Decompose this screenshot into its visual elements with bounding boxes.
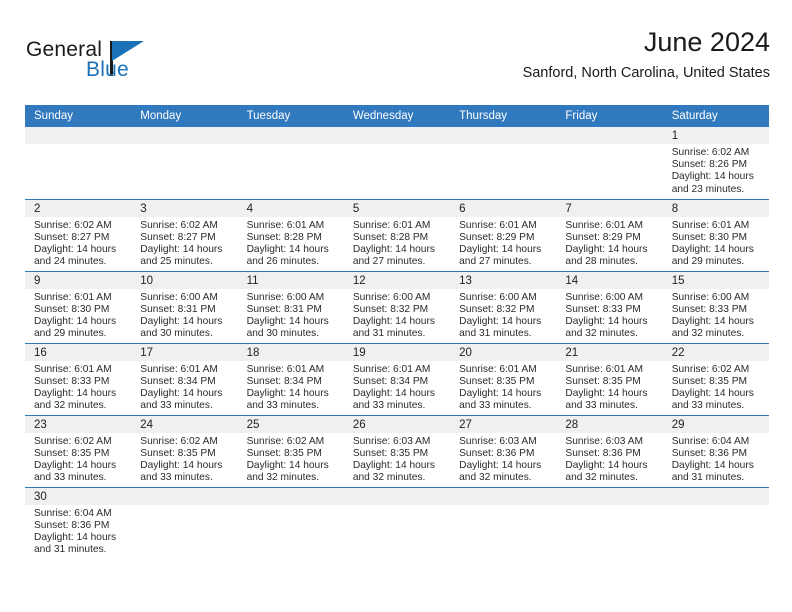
sunset-text: Sunset: 8:35 PM xyxy=(34,448,125,460)
day-details: Sunrise: 6:04 AMSunset: 8:36 PMDaylight:… xyxy=(663,433,769,485)
calendar-day-cell[interactable]: 22Sunrise: 6:02 AMSunset: 8:35 PMDayligh… xyxy=(663,343,769,415)
weekday-header-wednesday: Wednesday xyxy=(344,105,450,127)
sunrise-text: Sunrise: 6:01 AM xyxy=(140,364,231,376)
title-block: June 2024 Sanford, North Carolina, Unite… xyxy=(166,28,770,81)
sunset-text: Sunset: 8:35 PM xyxy=(353,448,444,460)
day-number: 23 xyxy=(25,416,131,433)
daylight-text-line1: Daylight: 14 hours xyxy=(672,316,763,328)
sunrise-text: Sunrise: 6:04 AM xyxy=(672,436,763,448)
daylight-text-line1: Daylight: 14 hours xyxy=(140,316,231,328)
sunset-text: Sunset: 8:32 PM xyxy=(459,304,550,316)
daylight-text-line2: and 23 minutes. xyxy=(672,184,763,196)
sunrise-text: Sunrise: 6:02 AM xyxy=(34,436,125,448)
sunrise-text: Sunrise: 6:01 AM xyxy=(247,220,338,232)
daylight-text-line1: Daylight: 14 hours xyxy=(565,460,656,472)
day-number xyxy=(663,488,769,505)
sunset-text: Sunset: 8:34 PM xyxy=(247,376,338,388)
day-number: 28 xyxy=(556,416,662,433)
day-number: 16 xyxy=(25,344,131,361)
daylight-text-line1: Daylight: 14 hours xyxy=(34,460,125,472)
calendar-day-cell-empty xyxy=(131,127,237,199)
day-details: Sunrise: 6:03 AMSunset: 8:35 PMDaylight:… xyxy=(344,433,450,485)
daylight-text-line1: Daylight: 14 hours xyxy=(34,244,125,256)
sunrise-text: Sunrise: 6:04 AM xyxy=(34,508,125,520)
day-number: 30 xyxy=(25,488,131,505)
daylight-text-line2: and 32 minutes. xyxy=(34,400,125,412)
day-number: 27 xyxy=(450,416,556,433)
daylight-text-line2: and 29 minutes. xyxy=(34,328,125,340)
sunrise-text: Sunrise: 6:01 AM xyxy=(459,364,550,376)
calendar-day-cell-empty xyxy=(556,127,662,199)
sunset-text: Sunset: 8:29 PM xyxy=(565,232,656,244)
day-details: Sunrise: 6:00 AMSunset: 8:31 PMDaylight:… xyxy=(238,289,344,341)
calendar-day-cell-empty xyxy=(131,487,237,559)
calendar-day-cell[interactable]: 24Sunrise: 6:02 AMSunset: 8:35 PMDayligh… xyxy=(131,415,237,487)
sunrise-text: Sunrise: 6:00 AM xyxy=(140,292,231,304)
daylight-text-line2: and 32 minutes. xyxy=(565,328,656,340)
day-details: Sunrise: 6:02 AMSunset: 8:27 PMDaylight:… xyxy=(131,217,237,269)
calendar-day-cell[interactable]: 9Sunrise: 6:01 AMSunset: 8:30 PMDaylight… xyxy=(25,271,131,343)
day-number: 25 xyxy=(238,416,344,433)
daylight-text-line1: Daylight: 14 hours xyxy=(353,244,444,256)
weekday-header-friday: Friday xyxy=(556,105,662,127)
calendar-day-cell[interactable]: 12Sunrise: 6:00 AMSunset: 8:32 PMDayligh… xyxy=(344,271,450,343)
daylight-text-line1: Daylight: 14 hours xyxy=(459,244,550,256)
day-number: 24 xyxy=(131,416,237,433)
day-details: Sunrise: 6:00 AMSunset: 8:33 PMDaylight:… xyxy=(556,289,662,341)
day-details: Sunrise: 6:01 AMSunset: 8:28 PMDaylight:… xyxy=(344,217,450,269)
sunrise-text: Sunrise: 6:01 AM xyxy=(672,220,763,232)
day-details: Sunrise: 6:02 AMSunset: 8:27 PMDaylight:… xyxy=(25,217,131,269)
day-details: Sunrise: 6:04 AMSunset: 8:36 PMDaylight:… xyxy=(25,505,131,557)
daylight-text-line1: Daylight: 14 hours xyxy=(34,316,125,328)
calendar-day-cell[interactable]: 27Sunrise: 6:03 AMSunset: 8:36 PMDayligh… xyxy=(450,415,556,487)
sunrise-text: Sunrise: 6:03 AM xyxy=(459,436,550,448)
sunrise-text: Sunrise: 6:02 AM xyxy=(672,364,763,376)
sunset-text: Sunset: 8:28 PM xyxy=(353,232,444,244)
daylight-text-line2: and 28 minutes. xyxy=(565,256,656,268)
day-number: 15 xyxy=(663,272,769,289)
calendar-day-cell[interactable]: 30Sunrise: 6:04 AMSunset: 8:36 PMDayligh… xyxy=(25,487,131,559)
day-number xyxy=(131,127,237,144)
calendar-day-cell[interactable]: 28Sunrise: 6:03 AMSunset: 8:36 PMDayligh… xyxy=(556,415,662,487)
sunset-text: Sunset: 8:35 PM xyxy=(565,376,656,388)
day-number: 6 xyxy=(450,200,556,217)
day-details: Sunrise: 6:00 AMSunset: 8:32 PMDaylight:… xyxy=(344,289,450,341)
sunset-text: Sunset: 8:35 PM xyxy=(140,448,231,460)
sunrise-text: Sunrise: 6:01 AM xyxy=(565,364,656,376)
daylight-text-line1: Daylight: 14 hours xyxy=(353,316,444,328)
daylight-text-line1: Daylight: 14 hours xyxy=(140,460,231,472)
day-details: Sunrise: 6:00 AMSunset: 8:33 PMDaylight:… xyxy=(663,289,769,341)
day-details: Sunrise: 6:01 AMSunset: 8:35 PMDaylight:… xyxy=(450,361,556,413)
sunset-text: Sunset: 8:26 PM xyxy=(672,159,763,171)
calendar-day-cell[interactable]: 5Sunrise: 6:01 AMSunset: 8:28 PMDaylight… xyxy=(344,199,450,271)
weekday-header-saturday: Saturday xyxy=(663,105,769,127)
sunset-text: Sunset: 8:30 PM xyxy=(34,304,125,316)
day-number xyxy=(450,488,556,505)
calendar-day-cell-empty xyxy=(450,487,556,559)
calendar-day-cell[interactable]: 20Sunrise: 6:01 AMSunset: 8:35 PMDayligh… xyxy=(450,343,556,415)
day-number xyxy=(238,127,344,144)
daylight-text-line2: and 32 minutes. xyxy=(247,472,338,484)
calendar-day-cell[interactable]: 11Sunrise: 6:00 AMSunset: 8:31 PMDayligh… xyxy=(238,271,344,343)
calendar-week-row: 30Sunrise: 6:04 AMSunset: 8:36 PMDayligh… xyxy=(25,487,769,559)
sunrise-text: Sunrise: 6:02 AM xyxy=(247,436,338,448)
day-number: 10 xyxy=(131,272,237,289)
day-number: 17 xyxy=(131,344,237,361)
calendar-page: General Blue June 2024 Sanford, North Ca… xyxy=(0,0,792,612)
sunrise-text: Sunrise: 6:01 AM xyxy=(565,220,656,232)
daylight-text-line1: Daylight: 14 hours xyxy=(459,460,550,472)
daylight-text-line2: and 32 minutes. xyxy=(672,328,763,340)
general-blue-logo[interactable]: General Blue xyxy=(26,28,166,84)
sunset-text: Sunset: 8:34 PM xyxy=(140,376,231,388)
calendar-day-cell-empty xyxy=(25,127,131,199)
calendar-day-cell[interactable]: 21Sunrise: 6:01 AMSunset: 8:35 PMDayligh… xyxy=(556,343,662,415)
day-number: 26 xyxy=(344,416,450,433)
day-number: 9 xyxy=(25,272,131,289)
day-details: Sunrise: 6:01 AMSunset: 8:33 PMDaylight:… xyxy=(25,361,131,413)
sunrise-text: Sunrise: 6:01 AM xyxy=(34,364,125,376)
daylight-text-line2: and 33 minutes. xyxy=(247,400,338,412)
calendar-day-cell[interactable]: 8Sunrise: 6:01 AMSunset: 8:30 PMDaylight… xyxy=(663,199,769,271)
day-details: Sunrise: 6:02 AMSunset: 8:35 PMDaylight:… xyxy=(663,361,769,413)
daylight-text-line2: and 31 minutes. xyxy=(672,472,763,484)
day-details: Sunrise: 6:00 AMSunset: 8:31 PMDaylight:… xyxy=(131,289,237,341)
calendar-day-cell[interactable]: 29Sunrise: 6:04 AMSunset: 8:36 PMDayligh… xyxy=(663,415,769,487)
daylight-text-line1: Daylight: 14 hours xyxy=(353,388,444,400)
day-number: 1 xyxy=(663,127,769,144)
sunrise-text: Sunrise: 6:02 AM xyxy=(34,220,125,232)
calendar-day-cell[interactable]: 25Sunrise: 6:02 AMSunset: 8:35 PMDayligh… xyxy=(238,415,344,487)
sunrise-text: Sunrise: 6:03 AM xyxy=(353,436,444,448)
day-number: 20 xyxy=(450,344,556,361)
sunset-text: Sunset: 8:29 PM xyxy=(459,232,550,244)
daylight-text-line1: Daylight: 14 hours xyxy=(459,316,550,328)
day-number: 5 xyxy=(344,200,450,217)
daylight-text-line1: Daylight: 14 hours xyxy=(247,244,338,256)
sunset-text: Sunset: 8:36 PM xyxy=(34,520,125,532)
calendar-week-row: 2Sunrise: 6:02 AMSunset: 8:27 PMDaylight… xyxy=(25,199,769,271)
day-number: 12 xyxy=(344,272,450,289)
sunset-text: Sunset: 8:28 PM xyxy=(247,232,338,244)
day-details: Sunrise: 6:02 AMSunset: 8:35 PMDaylight:… xyxy=(238,433,344,485)
day-number xyxy=(238,488,344,505)
daylight-text-line2: and 31 minutes. xyxy=(353,328,444,340)
calendar-day-cell[interactable]: 17Sunrise: 6:01 AMSunset: 8:34 PMDayligh… xyxy=(131,343,237,415)
sunset-text: Sunset: 8:35 PM xyxy=(459,376,550,388)
daylight-text-line1: Daylight: 14 hours xyxy=(672,244,763,256)
daylight-text-line1: Daylight: 14 hours xyxy=(459,388,550,400)
sunset-text: Sunset: 8:33 PM xyxy=(565,304,656,316)
calendar-day-cell[interactable]: 13Sunrise: 6:00 AMSunset: 8:32 PMDayligh… xyxy=(450,271,556,343)
day-number: 8 xyxy=(663,200,769,217)
day-details: Sunrise: 6:03 AMSunset: 8:36 PMDaylight:… xyxy=(556,433,662,485)
daylight-text-line2: and 33 minutes. xyxy=(565,400,656,412)
page-subtitle: Sanford, North Carolina, United States xyxy=(166,65,770,81)
sunset-text: Sunset: 8:32 PM xyxy=(353,304,444,316)
day-number: 13 xyxy=(450,272,556,289)
daylight-text-line2: and 33 minutes. xyxy=(140,472,231,484)
sunset-text: Sunset: 8:36 PM xyxy=(565,448,656,460)
day-details: Sunrise: 6:01 AMSunset: 8:29 PMDaylight:… xyxy=(450,217,556,269)
sunset-text: Sunset: 8:36 PM xyxy=(672,448,763,460)
day-number xyxy=(450,127,556,144)
daylight-text-line2: and 30 minutes. xyxy=(247,328,338,340)
sunrise-text: Sunrise: 6:00 AM xyxy=(247,292,338,304)
day-number: 19 xyxy=(344,344,450,361)
day-number xyxy=(25,127,131,144)
day-details: Sunrise: 6:01 AMSunset: 8:34 PMDaylight:… xyxy=(238,361,344,413)
calendar-day-cell-empty xyxy=(663,487,769,559)
calendar-table: SundayMondayTuesdayWednesdayThursdayFrid… xyxy=(25,105,769,559)
sunset-text: Sunset: 8:34 PM xyxy=(353,376,444,388)
day-number: 4 xyxy=(238,200,344,217)
daylight-text-line2: and 32 minutes. xyxy=(459,472,550,484)
sunrise-text: Sunrise: 6:00 AM xyxy=(459,292,550,304)
day-details: Sunrise: 6:01 AMSunset: 8:35 PMDaylight:… xyxy=(556,361,662,413)
day-details: Sunrise: 6:00 AMSunset: 8:32 PMDaylight:… xyxy=(450,289,556,341)
calendar-day-cell[interactable]: 6Sunrise: 6:01 AMSunset: 8:29 PMDaylight… xyxy=(450,199,556,271)
sunrise-text: Sunrise: 6:01 AM xyxy=(34,292,125,304)
sunrise-text: Sunrise: 6:00 AM xyxy=(353,292,444,304)
sunrise-text: Sunrise: 6:01 AM xyxy=(353,220,444,232)
daylight-text-line1: Daylight: 14 hours xyxy=(34,532,125,544)
sunrise-text: Sunrise: 6:03 AM xyxy=(565,436,656,448)
day-number: 29 xyxy=(663,416,769,433)
daylight-text-line2: and 24 minutes. xyxy=(34,256,125,268)
calendar-day-cell-empty xyxy=(238,487,344,559)
calendar-day-cell[interactable]: 3Sunrise: 6:02 AMSunset: 8:27 PMDaylight… xyxy=(131,199,237,271)
daylight-text-line1: Daylight: 14 hours xyxy=(672,388,763,400)
sunrise-text: Sunrise: 6:00 AM xyxy=(565,292,656,304)
day-details: Sunrise: 6:01 AMSunset: 8:30 PMDaylight:… xyxy=(25,289,131,341)
daylight-text-line1: Daylight: 14 hours xyxy=(672,460,763,472)
day-details: Sunrise: 6:02 AMSunset: 8:26 PMDaylight:… xyxy=(663,144,769,196)
sunset-text: Sunset: 8:31 PM xyxy=(140,304,231,316)
weekday-header-tuesday: Tuesday xyxy=(238,105,344,127)
daylight-text-line1: Daylight: 14 hours xyxy=(34,388,125,400)
weekday-header-monday: Monday xyxy=(131,105,237,127)
daylight-text-line1: Daylight: 14 hours xyxy=(565,244,656,256)
day-details: Sunrise: 6:01 AMSunset: 8:34 PMDaylight:… xyxy=(344,361,450,413)
sunset-text: Sunset: 8:27 PM xyxy=(140,232,231,244)
sunrise-text: Sunrise: 6:01 AM xyxy=(459,220,550,232)
daylight-text-line2: and 26 minutes. xyxy=(247,256,338,268)
daylight-text-line2: and 27 minutes. xyxy=(459,256,550,268)
sunrise-text: Sunrise: 6:01 AM xyxy=(247,364,338,376)
calendar-day-cell[interactable]: 4Sunrise: 6:01 AMSunset: 8:28 PMDaylight… xyxy=(238,199,344,271)
calendar-day-cell-empty xyxy=(238,127,344,199)
calendar-body: 1Sunrise: 6:02 AMSunset: 8:26 PMDaylight… xyxy=(25,127,769,559)
daylight-text-line1: Daylight: 14 hours xyxy=(247,460,338,472)
daylight-text-line2: and 31 minutes. xyxy=(34,544,125,556)
calendar-week-row: 23Sunrise: 6:02 AMSunset: 8:35 PMDayligh… xyxy=(25,415,769,487)
day-details: Sunrise: 6:03 AMSunset: 8:36 PMDaylight:… xyxy=(450,433,556,485)
daylight-text-line1: Daylight: 14 hours xyxy=(565,316,656,328)
calendar-day-cell[interactable]: 15Sunrise: 6:00 AMSunset: 8:33 PMDayligh… xyxy=(663,271,769,343)
day-number xyxy=(556,488,662,505)
day-details: Sunrise: 6:01 AMSunset: 8:29 PMDaylight:… xyxy=(556,217,662,269)
weekday-header-sunday: Sunday xyxy=(25,105,131,127)
day-number: 2 xyxy=(25,200,131,217)
calendar-day-cell[interactable]: 19Sunrise: 6:01 AMSunset: 8:34 PMDayligh… xyxy=(344,343,450,415)
daylight-text-line2: and 33 minutes. xyxy=(459,400,550,412)
day-details: Sunrise: 6:01 AMSunset: 8:30 PMDaylight:… xyxy=(663,217,769,269)
day-details: Sunrise: 6:01 AMSunset: 8:28 PMDaylight:… xyxy=(238,217,344,269)
daylight-text-line2: and 33 minutes. xyxy=(672,400,763,412)
page-header: General Blue June 2024 Sanford, North Ca… xyxy=(0,0,792,96)
day-number: 11 xyxy=(238,272,344,289)
sunset-text: Sunset: 8:30 PM xyxy=(672,232,763,244)
sunrise-text: Sunrise: 6:02 AM xyxy=(672,147,763,159)
sunset-text: Sunset: 8:33 PM xyxy=(34,376,125,388)
calendar-day-cell-empty xyxy=(344,487,450,559)
calendar-header-row: SundayMondayTuesdayWednesdayThursdayFrid… xyxy=(25,105,769,127)
daylight-text-line2: and 31 minutes. xyxy=(459,328,550,340)
day-number: 3 xyxy=(131,200,237,217)
daylight-text-line1: Daylight: 14 hours xyxy=(247,388,338,400)
calendar-week-row: 1Sunrise: 6:02 AMSunset: 8:26 PMDaylight… xyxy=(25,127,769,199)
daylight-text-line2: and 25 minutes. xyxy=(140,256,231,268)
sunrise-text: Sunrise: 6:02 AM xyxy=(140,436,231,448)
daylight-text-line2: and 33 minutes. xyxy=(34,472,125,484)
page-title: June 2024 xyxy=(166,28,770,57)
sunset-text: Sunset: 8:33 PM xyxy=(672,304,763,316)
calendar-day-cell[interactable]: 2Sunrise: 6:02 AMSunset: 8:27 PMDaylight… xyxy=(25,199,131,271)
calendar-day-cell[interactable]: 7Sunrise: 6:01 AMSunset: 8:29 PMDaylight… xyxy=(556,199,662,271)
daylight-text-line1: Daylight: 14 hours xyxy=(672,171,763,183)
calendar-grid-wrapper: SundayMondayTuesdayWednesdayThursdayFrid… xyxy=(25,105,769,559)
calendar-day-cell[interactable]: 16Sunrise: 6:01 AMSunset: 8:33 PMDayligh… xyxy=(25,343,131,415)
daylight-text-line2: and 27 minutes. xyxy=(353,256,444,268)
calendar-day-cell[interactable]: 23Sunrise: 6:02 AMSunset: 8:35 PMDayligh… xyxy=(25,415,131,487)
day-details: Sunrise: 6:01 AMSunset: 8:34 PMDaylight:… xyxy=(131,361,237,413)
day-number xyxy=(344,488,450,505)
sunset-text: Sunset: 8:27 PM xyxy=(34,232,125,244)
day-number xyxy=(344,127,450,144)
day-details: Sunrise: 6:02 AMSunset: 8:35 PMDaylight:… xyxy=(131,433,237,485)
day-number xyxy=(131,488,237,505)
calendar-day-cell[interactable]: 14Sunrise: 6:00 AMSunset: 8:33 PMDayligh… xyxy=(556,271,662,343)
sunset-text: Sunset: 8:31 PM xyxy=(247,304,338,316)
daylight-text-line1: Daylight: 14 hours xyxy=(140,244,231,256)
calendar-week-row: 9Sunrise: 6:01 AMSunset: 8:30 PMDaylight… xyxy=(25,271,769,343)
sunrise-text: Sunrise: 6:00 AM xyxy=(672,292,763,304)
day-number: 14 xyxy=(556,272,662,289)
sunset-text: Sunset: 8:35 PM xyxy=(247,448,338,460)
daylight-text-line2: and 29 minutes. xyxy=(672,256,763,268)
daylight-text-line2: and 33 minutes. xyxy=(353,400,444,412)
daylight-text-line1: Daylight: 14 hours xyxy=(140,388,231,400)
sunset-text: Sunset: 8:35 PM xyxy=(672,376,763,388)
calendar-day-cell-empty xyxy=(450,127,556,199)
calendar-day-cell-empty xyxy=(556,487,662,559)
calendar-day-cell-empty xyxy=(344,127,450,199)
sunset-text: Sunset: 8:36 PM xyxy=(459,448,550,460)
daylight-text-line1: Daylight: 14 hours xyxy=(565,388,656,400)
sunrise-text: Sunrise: 6:02 AM xyxy=(140,220,231,232)
daylight-text-line2: and 32 minutes. xyxy=(353,472,444,484)
day-details: Sunrise: 6:02 AMSunset: 8:35 PMDaylight:… xyxy=(25,433,131,485)
calendar-day-cell[interactable]: 1Sunrise: 6:02 AMSunset: 8:26 PMDaylight… xyxy=(663,127,769,199)
day-number: 21 xyxy=(556,344,662,361)
day-number xyxy=(556,127,662,144)
weekday-header-thursday: Thursday xyxy=(450,105,556,127)
day-number: 7 xyxy=(556,200,662,217)
daylight-text-line2: and 30 minutes. xyxy=(140,328,231,340)
calendar-week-row: 16Sunrise: 6:01 AMSunset: 8:33 PMDayligh… xyxy=(25,343,769,415)
daylight-text-line2: and 33 minutes. xyxy=(140,400,231,412)
calendar-day-cell[interactable]: 10Sunrise: 6:00 AMSunset: 8:31 PMDayligh… xyxy=(131,271,237,343)
daylight-text-line1: Daylight: 14 hours xyxy=(247,316,338,328)
day-number: 22 xyxy=(663,344,769,361)
logo-word-blue: Blue xyxy=(86,58,129,82)
sunrise-text: Sunrise: 6:01 AM xyxy=(353,364,444,376)
day-number: 18 xyxy=(238,344,344,361)
daylight-text-line2: and 32 minutes. xyxy=(565,472,656,484)
calendar-day-cell[interactable]: 26Sunrise: 6:03 AMSunset: 8:35 PMDayligh… xyxy=(344,415,450,487)
calendar-day-cell[interactable]: 18Sunrise: 6:01 AMSunset: 8:34 PMDayligh… xyxy=(238,343,344,415)
daylight-text-line1: Daylight: 14 hours xyxy=(353,460,444,472)
